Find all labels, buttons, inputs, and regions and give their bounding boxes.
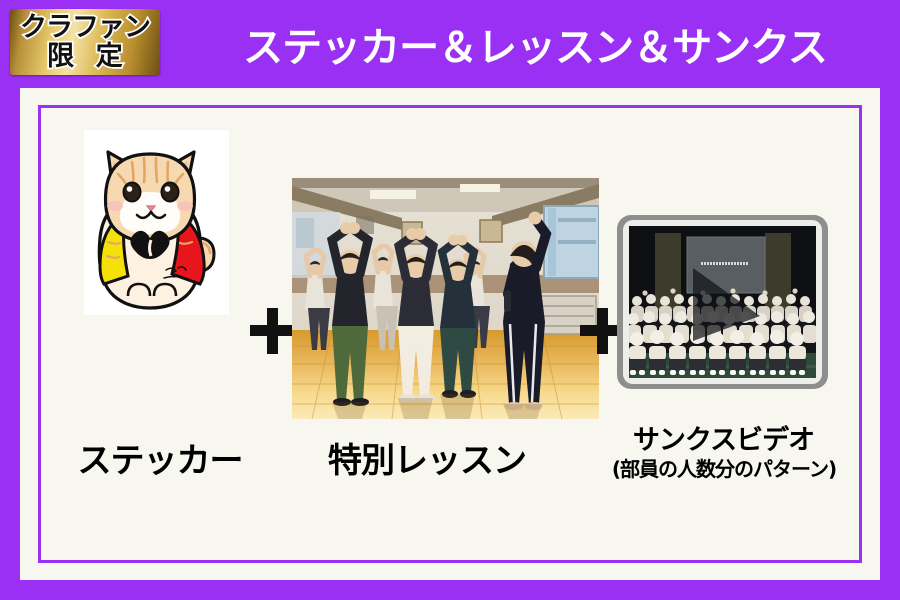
video-label: サンクスビデオ (596, 418, 851, 457)
thanks-video-thumbnail[interactable] (615, 213, 830, 391)
content-panel-inner-border: + (38, 105, 862, 563)
header-bar: クラファン 限 定 ステッカー＆レッスン＆サンクス (0, 0, 900, 88)
plus-icon-1: + (250, 308, 296, 354)
cat-mascot-sticker-image (84, 130, 229, 315)
video-sublabel: (部員の人数分のパターン) (584, 453, 864, 482)
sticker-label: ステッカー (65, 433, 255, 482)
lesson-label: 特別レッスン (277, 433, 577, 482)
badge-line-2: 限 定 (41, 43, 128, 70)
crowdfunding-limited-badge: クラファン 限 定 (10, 9, 160, 75)
dance-lesson-photo (292, 178, 599, 419)
content-panel: + (20, 88, 880, 580)
page-title: ステッカー＆レッスン＆サンクス (170, 0, 900, 88)
reward-items-row: + (41, 108, 859, 560)
badge-line-1: クラファン (20, 14, 150, 41)
